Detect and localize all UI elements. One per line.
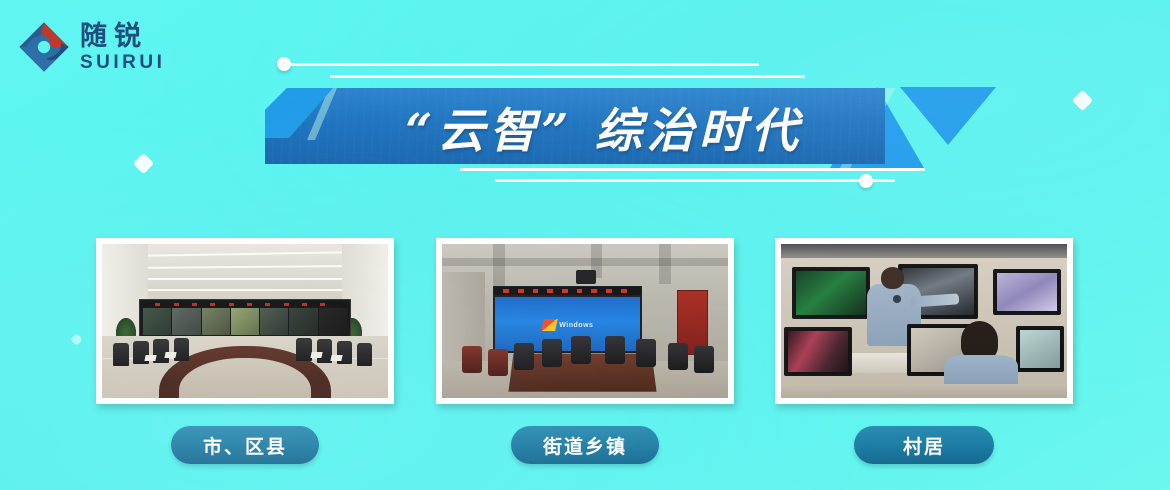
page-title: “云智” 综治时代 — [265, 88, 885, 164]
deco-line-top-1 — [289, 63, 759, 66]
deco-line-bottom-1 — [460, 168, 925, 171]
street-town-photo: Windows — [442, 244, 728, 398]
card-label-city-district[interactable]: 市、区县 — [171, 426, 319, 464]
title-banner: “云智” 综治时代 — [255, 55, 955, 190]
brand-logo[interactable]: 随锐 SUIRUI — [16, 16, 196, 78]
photo-frame — [775, 238, 1073, 404]
deco-dot-left-icon — [277, 57, 291, 71]
card-city-district[interactable]: 市、区县 — [96, 238, 394, 464]
suirui-diamond-logo-icon — [16, 19, 72, 75]
slide-root: 随锐 SUIRUI “云智” 综治时代 — [0, 0, 1170, 490]
diamond-2-icon — [1072, 90, 1093, 111]
photo-frame: Windows — [436, 238, 734, 404]
card-label-street-town[interactable]: 街道乡镇 — [511, 426, 659, 464]
diamond-1-icon — [133, 153, 154, 174]
card-village[interactable]: 村居 — [775, 238, 1073, 464]
deco-line-top-2 — [330, 75, 805, 78]
city-district-photo — [102, 244, 388, 398]
photo-frame — [96, 238, 394, 404]
village-photo — [781, 244, 1067, 398]
deco-dot-right-icon — [859, 174, 873, 188]
triangle-down-icon — [900, 87, 996, 145]
brand-text-block: 随锐 SUIRUI — [80, 23, 165, 72]
brand-name-cn: 随锐 — [80, 23, 165, 50]
card-label-village[interactable]: 村居 — [854, 426, 994, 464]
card-street-town[interactable]: Windows 街道乡镇 — [436, 238, 734, 464]
brand-name-en: SUIRUI — [80, 53, 165, 72]
card-row: 市、区县 — [0, 238, 1170, 483]
deco-line-bottom-2 — [495, 179, 895, 182]
